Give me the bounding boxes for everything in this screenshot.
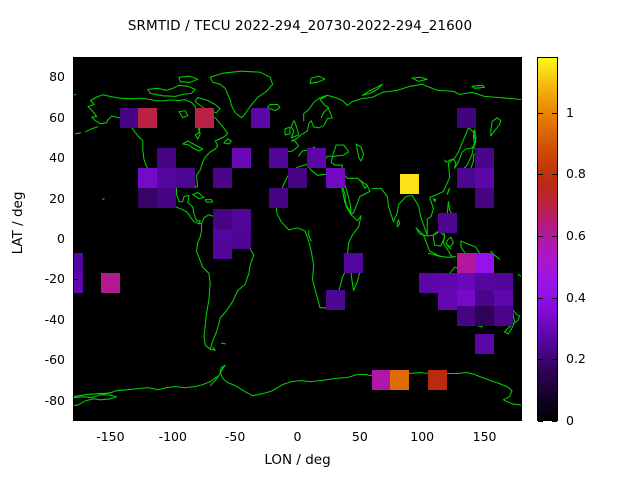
- map-plot-area: [73, 57, 522, 421]
- heatmap-cell: [157, 168, 176, 188]
- x-tick-mark: [422, 416, 423, 421]
- colorbar-tick-mark: [552, 174, 557, 175]
- heatmap-cell: [157, 148, 176, 168]
- heatmap-cell: [176, 168, 195, 188]
- heatmap-cell: [372, 370, 391, 390]
- x-tick-label: -50: [205, 429, 265, 444]
- heatmap-cell: [457, 253, 476, 273]
- heatmap-cell: [138, 168, 157, 188]
- y-tick-mark: [73, 158, 78, 159]
- colorbar-tick-label: 0: [566, 413, 574, 428]
- x-tick-mark: [110, 416, 111, 421]
- x-tick-label: 150: [455, 429, 515, 444]
- heatmap-cell: [232, 209, 251, 229]
- x-tick-label: -150: [80, 429, 140, 444]
- y-tick-label: -80: [11, 393, 65, 408]
- colorbar-tick-label: 0.8: [566, 166, 586, 181]
- y-tick-label: 60: [11, 110, 65, 125]
- y-tick-mark: [73, 118, 78, 119]
- x-tick-label: 50: [330, 429, 390, 444]
- x-tick-mark: [235, 416, 236, 421]
- x-tick-mark: [298, 416, 299, 421]
- heatmap-cell: [288, 168, 307, 188]
- heatmap-cell: [195, 108, 214, 128]
- colorbar-tick-mark: [538, 359, 543, 360]
- y-tick-label: 80: [11, 69, 65, 84]
- chart-title: SRMTID / TECU 2022-294_20730-2022-294_21…: [0, 18, 600, 34]
- colorbar-tick-mark: [552, 421, 557, 422]
- y-tick-mark: [73, 360, 78, 361]
- heatmap-cell: [326, 290, 345, 310]
- heatmap-cell: [344, 253, 363, 273]
- x-tick-mark: [173, 416, 174, 421]
- heatmap-cell: [269, 188, 288, 208]
- x-axis-label: LON / deg: [73, 452, 522, 468]
- y-tick-label: -40: [11, 312, 65, 327]
- heatmap-cell: [419, 273, 438, 293]
- colorbar-tick-mark: [538, 421, 543, 422]
- heatmap-cell: [475, 168, 494, 188]
- heatmap-cell: [232, 148, 251, 168]
- heatmap-cell: [213, 239, 232, 259]
- colorbar-tick-label: 1: [566, 105, 574, 120]
- y-tick-mark: [73, 279, 78, 280]
- heatmap-cell: [428, 370, 447, 390]
- heatmap-cell: [232, 229, 251, 249]
- colorbar-tick-mark: [552, 236, 557, 237]
- heatmap-cell: [475, 334, 494, 354]
- heatmap-cell: [307, 148, 326, 168]
- heatmap-cell: [73, 273, 83, 293]
- y-tick-mark: [73, 401, 78, 402]
- x-tick-mark: [360, 416, 361, 421]
- x-tick-label: -100: [143, 429, 203, 444]
- y-tick-label: -60: [11, 352, 65, 367]
- heatmap-cell: [73, 253, 83, 273]
- x-tick-label: 100: [392, 429, 452, 444]
- heatmap-cell: [120, 108, 139, 128]
- heatmap-cell: [269, 148, 288, 168]
- colorbar-tick-mark: [538, 174, 543, 175]
- heatmap-cell: [213, 168, 232, 188]
- y-tick-mark: [73, 77, 78, 78]
- heatmap-cell: [251, 108, 270, 128]
- colorbar-tick-mark: [552, 298, 557, 299]
- colorbar-tick-mark: [538, 113, 543, 114]
- heatmap-cell: [400, 174, 419, 194]
- heatmap-cell: [457, 108, 476, 128]
- y-tick-mark: [73, 239, 78, 240]
- y-tick-mark: [73, 199, 78, 200]
- heatmap-cell: [101, 273, 120, 293]
- heatmap-cell: [438, 290, 457, 310]
- colorbar-tick-label: 0.4: [566, 290, 586, 305]
- heatmap-cell: [475, 253, 494, 273]
- heatmap-cell: [457, 168, 476, 188]
- heatmap-cell: [457, 306, 476, 326]
- colorbar-tick-mark: [552, 113, 557, 114]
- heatmap-cell: [475, 306, 494, 326]
- plot-figure: SRMTID / TECU 2022-294_20730-2022-294_21…: [0, 0, 640, 480]
- heatmap-cell: [494, 306, 513, 326]
- heatmap-cell: [475, 188, 494, 208]
- heatmap-cell: [157, 188, 176, 208]
- heatmap-cell: [138, 108, 157, 128]
- y-axis-label: LAT / deg: [10, 153, 26, 293]
- colorbar-tick-label: 0.6: [566, 228, 586, 243]
- x-tick-mark: [485, 416, 486, 421]
- colorbar-tick-label: 0.2: [566, 351, 586, 366]
- heatmap-cell: [326, 168, 345, 188]
- heatmap-cell: [138, 188, 157, 208]
- heatmap-cell: [475, 148, 494, 168]
- x-tick-label: 0: [268, 429, 328, 444]
- y-tick-mark: [73, 320, 78, 321]
- heatmap-cell: [390, 370, 409, 390]
- heatmap-cell: [213, 209, 232, 229]
- colorbar-tick-mark: [538, 236, 543, 237]
- heatmap-cell: [438, 213, 457, 233]
- colorbar-tick-mark: [538, 298, 543, 299]
- colorbar-tick-mark: [552, 359, 557, 360]
